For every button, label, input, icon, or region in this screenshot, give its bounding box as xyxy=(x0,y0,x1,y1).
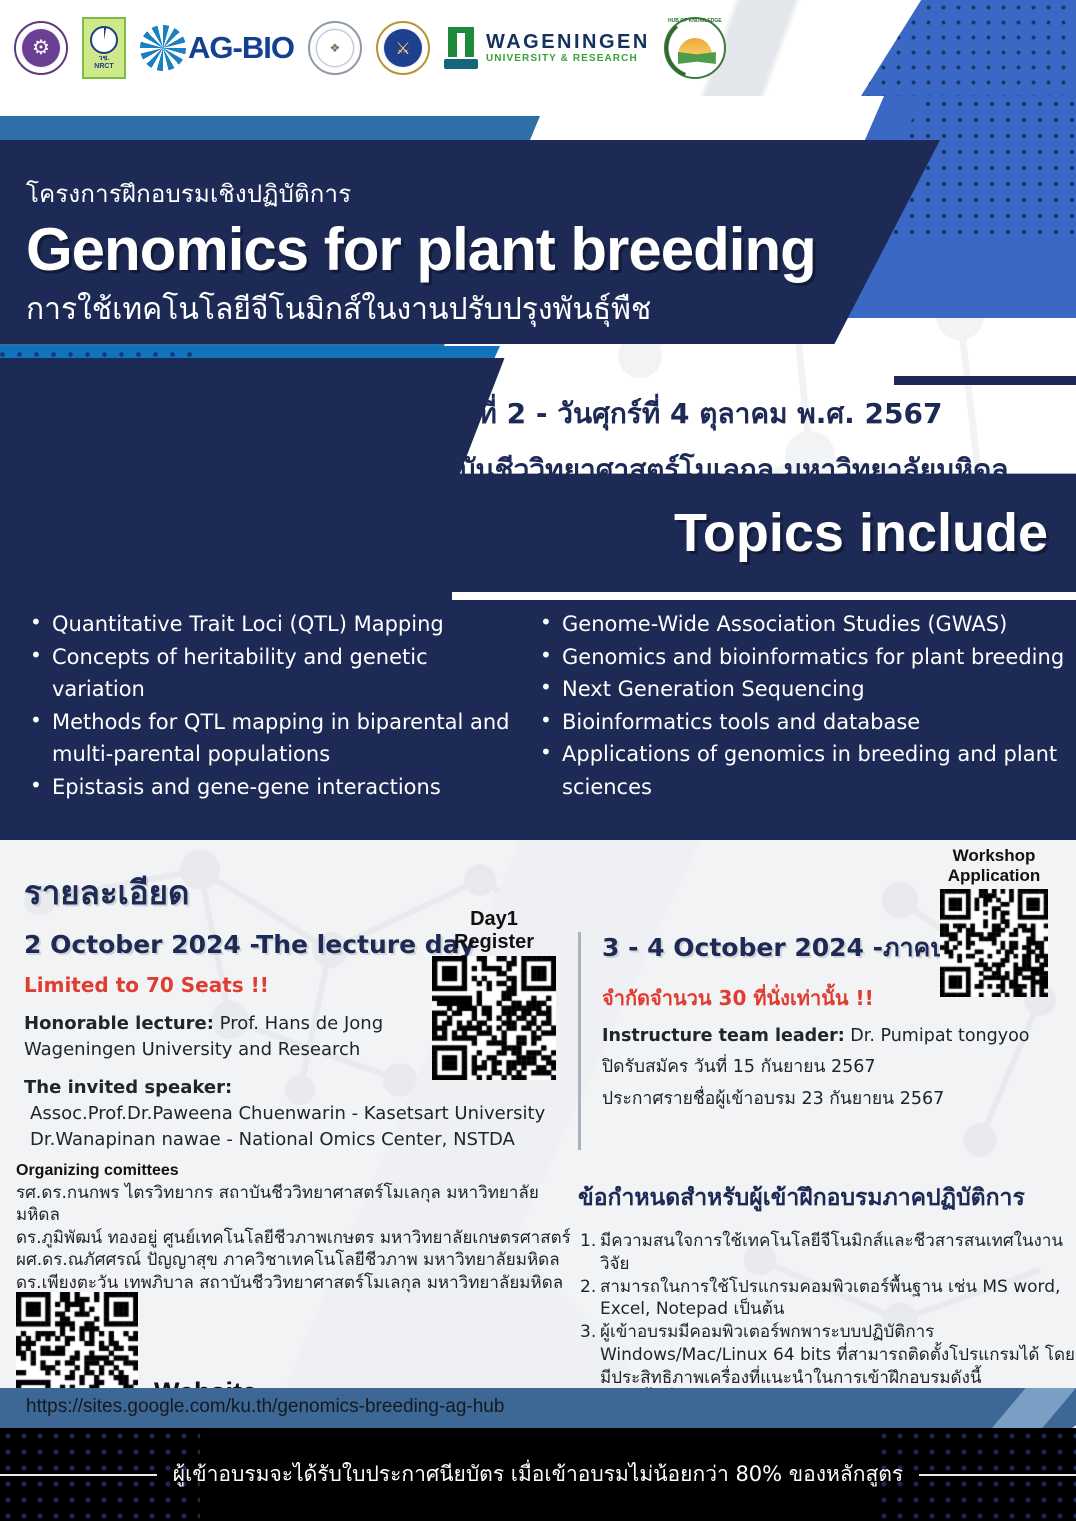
event-location-row: สถาบันชีววิทยาศาสตร์โมเลกุล มหาวิทยาลัยม… xyxy=(360,448,1008,492)
workshop-qr-label-1: Workshop xyxy=(940,846,1048,866)
day1-invited-speaker-2: Dr.Wanapinan nawae - National Omics Cent… xyxy=(24,1127,584,1153)
workshop-application-qr-code[interactable] xyxy=(940,889,1048,997)
event-date-row: วันพุธที่ 2 - วันศุกร์ที่ 4 ตุลาคม พ.ศ. … xyxy=(360,392,1008,436)
calendar-icon xyxy=(360,397,394,431)
day1-invited-label: The invited speaker: xyxy=(24,1077,232,1098)
nrct-logo: วช. NRCT xyxy=(82,17,126,79)
day2-leader-name: Dr. Pumipat tongyoo xyxy=(850,1026,1029,1046)
list-item: Genomics and bioinformatics for plant br… xyxy=(532,641,1076,674)
list-item: Bioinformatics tools and database xyxy=(532,706,1076,739)
topics-column-right: Genome-Wide Association Studies (GWAS) G… xyxy=(510,608,1076,803)
details-section: รายละเอียด 2 October 2024 -The lecture d… xyxy=(0,840,1076,1445)
wageningen-tagline: UNIVERSITY & RESEARCH xyxy=(486,53,650,64)
hub-ring-text: HUB OF KNOWLEDGE xyxy=(666,18,724,24)
title-block: โครงการฝึกอบรมเชิงปฏิบัติการ Genomics fo… xyxy=(26,174,816,333)
topics-underline xyxy=(452,592,1076,600)
nrct-label-en: NRCT xyxy=(94,63,113,70)
partner-logo-bar: ⚙ วช. NRCT AG-BIO ❖ ⚔ WAGENINGEN UNIVERS… xyxy=(0,0,1076,96)
ag-bio-logo: AG-BIO xyxy=(140,25,294,71)
topics-lists: Quantitative Trait Loci (QTL) Mapping Co… xyxy=(0,608,1076,803)
requirement-item: ผู้เข้าอบรมมีคอมพิวเตอร์พกพาระบบปฏิบัติก… xyxy=(578,1321,1076,1389)
website-url[interactable]: https://sites.google.com/ku.th/genomics-… xyxy=(26,1396,504,1418)
list-item: Epistasis and gene-gene interactions xyxy=(22,771,510,804)
requirement-item: มีความสนใจการใช้เทคโนโลยีจีโนมิกส์และชีว… xyxy=(578,1230,1076,1276)
program-kicker: โครงการฝึกอบรมเชิงปฏิบัติการ xyxy=(26,174,816,213)
mahidol-seal-logo: ⚙ xyxy=(14,21,68,75)
list-item: Genome-Wide Association Studies (GWAS) xyxy=(532,608,1076,641)
event-date: วันพุธที่ 2 - วันศุกร์ที่ 4 ตุลาคม พ.ศ. … xyxy=(408,392,942,436)
footer-rule-right xyxy=(919,1474,1076,1476)
hero-section: โครงการฝึกอบรมเชิงปฏิบัติการ Genomics fo… xyxy=(0,96,1076,840)
day1-honorable-name: Prof. Hans de Jong xyxy=(220,1013,383,1034)
list-item: Quantitative Trait Loci (QTL) Mapping xyxy=(22,608,510,641)
workshop-qr-label-2: Application xyxy=(940,866,1048,886)
details-section-title: รายละเอียด xyxy=(24,866,189,919)
page-title: Genomics for plant breeding xyxy=(26,215,816,284)
hub-of-knowledge-logo: HUB OF KNOWLEDGE xyxy=(664,17,726,79)
committee-heading: Organizing comittees xyxy=(16,1162,576,1180)
day1-qr-label: Day1 Register xyxy=(432,908,556,954)
committee-member: ผศ.ดร.ณภัศศรณ์ ปัญญาสุข ภาควิชาเทคโนโลยี… xyxy=(16,1249,576,1271)
requirements-heading: ข้อกำหนดสำหรับผู้เข้าฝึกอบรมภาคปฏิบัติกา… xyxy=(578,1180,1076,1216)
wageningen-mark-icon xyxy=(444,27,478,69)
topics-column-left: Quantitative Trait Loci (QTL) Mapping Co… xyxy=(0,608,510,803)
list-item: Next Generation Sequencing xyxy=(532,673,1076,706)
day2-leader-row: Instructure team leader: Dr. Pumipat ton… xyxy=(602,1024,1076,1049)
kasetsart-seal-logo: ⚔ xyxy=(376,21,430,75)
footer-text: ผู้เข้าอบรมจะได้รับใบประกาศนียบัตร เมื่อ… xyxy=(173,1458,903,1491)
day2-leader-label: Instructure team leader: xyxy=(602,1026,845,1046)
page-subtitle: การใช้เทคโนโลยีจีโนมิกส์ในงานปรับปรุงพัน… xyxy=(26,286,816,333)
wageningen-name: WAGENINGEN xyxy=(486,32,650,53)
list-item: Methods for QTL mapping in biparental an… xyxy=(22,706,510,771)
day1-honorable-label: Honorable lecture: xyxy=(24,1013,214,1034)
list-item: Concepts of heritability and genetic var… xyxy=(22,641,510,706)
day1-register-qr-code[interactable] xyxy=(432,956,556,1080)
ag-bio-wordmark: AG-BIO xyxy=(188,30,294,66)
committee-member: ดร.เพียงตะวัน เทพภิบาล สถาบันชีววิทยาศาส… xyxy=(16,1272,576,1294)
list-item: Applications of genomics in breeding and… xyxy=(532,738,1076,803)
footer-rule-left xyxy=(0,1474,157,1476)
day1-register-qr-block[interactable]: Day1 Register xyxy=(432,908,556,1085)
event-location: สถาบันชีววิทยาศาสตร์โมเลกุล มหาวิทยาลัยม… xyxy=(408,448,1008,492)
institute-seal-logo: ❖ xyxy=(308,21,362,75)
nrct-wheel-icon xyxy=(90,26,118,54)
ag-bio-burst-icon xyxy=(140,25,186,71)
nrct-label-th: วช. xyxy=(99,55,110,62)
day1-invited-speaker-1: Assoc.Prof.Dr.Paweena Chuenwarin - Kaset… xyxy=(24,1101,584,1127)
committee-member: รศ.ดร.กนกพร ไตรวิทยากร สถาบันชีววิทยาศาส… xyxy=(16,1182,576,1227)
requirement-item: สามารถในการใช้โปรแกรมคอมพิวเตอร์พื้นฐาน … xyxy=(578,1276,1076,1322)
wageningen-logo: WAGENINGEN UNIVERSITY & RESEARCH xyxy=(444,27,650,69)
topics-heading: Topics include xyxy=(674,502,1048,564)
footer-banner: ผู้เข้าอบรมจะได้รับใบประกาศนียบัตร เมื่อ… xyxy=(0,1428,1076,1521)
workshop-application-qr-block[interactable]: Workshop Application xyxy=(940,846,1048,1002)
day2-announce-date: ประกาศรายชื่อผู้เข้าอบรม 23 กันยายน 2567 xyxy=(602,1087,1076,1112)
hero-rule-upper xyxy=(894,376,1076,385)
committee-member: ดร.ภูมิพัฒน์ ทองอยู่ ศูนย์เทคโนโลยีชีวภา… xyxy=(16,1227,576,1249)
organizing-committee-block: Organizing comittees รศ.ดร.กนกพร ไตรวิทย… xyxy=(16,1162,576,1294)
day2-close-date: ปิดรับสมัคร วันที่ 15 กันยายน 2567 xyxy=(602,1055,1076,1080)
event-meta: วันพุธที่ 2 - วันศุกร์ที่ 4 ตุลาคม พ.ศ. … xyxy=(360,392,1008,504)
website-url-bar[interactable]: https://sites.google.com/ku.th/genomics-… xyxy=(0,1388,1076,1428)
map-pin-icon xyxy=(360,450,394,490)
